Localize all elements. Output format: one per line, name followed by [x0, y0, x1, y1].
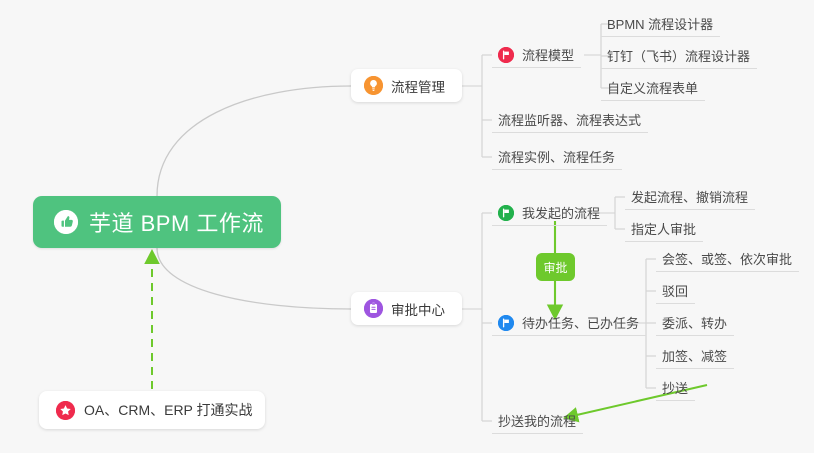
branch-label-approval-center: 审批中心	[391, 299, 445, 319]
topic-label: 我发起的流程	[522, 203, 600, 222]
subtopic-dingtalk-feishu-designer[interactable]: 钉钉（飞书）流程设计器	[601, 43, 757, 69]
subtopic-label: 抄送	[662, 378, 688, 397]
subtopic-countersign[interactable]: 会签、或签、依次审批	[656, 246, 799, 272]
subtopic-label: 指定人审批	[631, 219, 696, 238]
topic-label: 流程模型	[522, 45, 574, 64]
lightbulb-icon	[364, 76, 383, 95]
star-icon	[56, 401, 75, 420]
topic-todo-done-tasks[interactable]: 待办任务、已办任务	[492, 310, 646, 336]
subtopic-custom-form[interactable]: 自定义流程表单	[601, 75, 705, 101]
mindmap-canvas: 芋道 BPM 工作流 OA、CRM、ERP 打通实战 流程管理	[0, 0, 814, 453]
flag-icon	[498, 315, 514, 331]
subtopic-delegate-transfer[interactable]: 委派、转办	[656, 310, 734, 336]
bottom-note-node[interactable]: OA、CRM、ERP 打通实战	[39, 391, 265, 429]
bottom-note-label: OA、CRM、ERP 打通实战	[84, 400, 253, 420]
topic-cc-to-me-process[interactable]: 抄送我的流程	[492, 408, 583, 434]
flag-icon	[498, 205, 514, 221]
branch-label-process-management: 流程管理	[391, 76, 445, 96]
subtopic-carbon-copy[interactable]: 抄送	[656, 375, 695, 401]
subtopic-label: BPMN 流程设计器	[607, 14, 713, 33]
topic-process-listener[interactable]: 流程监听器、流程表达式	[492, 107, 648, 133]
subtopic-label: 钉钉（飞书）流程设计器	[607, 46, 750, 65]
subtopic-label: 会签、或签、依次审批	[662, 249, 792, 268]
subtopic-label: 发起流程、撤销流程	[631, 187, 748, 206]
subtopic-label: 委派、转办	[662, 313, 727, 332]
topic-label: 抄送我的流程	[498, 411, 576, 430]
topic-label: 流程实例、流程任务	[498, 147, 615, 166]
topic-process-instance[interactable]: 流程实例、流程任务	[492, 144, 622, 170]
topic-my-initiated-process[interactable]: 我发起的流程	[492, 200, 607, 226]
subtopic-start-cancel-process[interactable]: 发起流程、撤销流程	[625, 184, 755, 210]
flag-icon	[498, 47, 514, 63]
subtopic-label: 自定义流程表单	[607, 78, 698, 97]
branch-node-approval-center[interactable]: 审批中心	[351, 292, 462, 325]
approval-arrow-label-text: 审批	[543, 259, 567, 276]
topic-process-model[interactable]: 流程模型	[492, 42, 581, 68]
subtopic-label: 加签、减签	[662, 346, 727, 365]
topic-label: 流程监听器、流程表达式	[498, 110, 641, 129]
root-node[interactable]: 芋道 BPM 工作流	[33, 196, 281, 248]
branch-node-process-management[interactable]: 流程管理	[351, 69, 462, 102]
subtopic-assigned-approver[interactable]: 指定人审批	[625, 216, 703, 242]
topic-label: 待办任务、已办任务	[522, 313, 639, 332]
subtopic-label: 驳回	[662, 281, 688, 300]
root-label: 芋道 BPM 工作流	[89, 206, 264, 238]
thumbs-up-icon	[54, 210, 78, 234]
clipboard-icon	[364, 299, 383, 318]
subtopic-add-remove-sign[interactable]: 加签、减签	[656, 343, 734, 369]
subtopic-bpmn-designer[interactable]: BPMN 流程设计器	[601, 11, 720, 37]
subtopic-reject[interactable]: 驳回	[656, 278, 695, 304]
approval-arrow-label: 审批	[536, 253, 575, 281]
